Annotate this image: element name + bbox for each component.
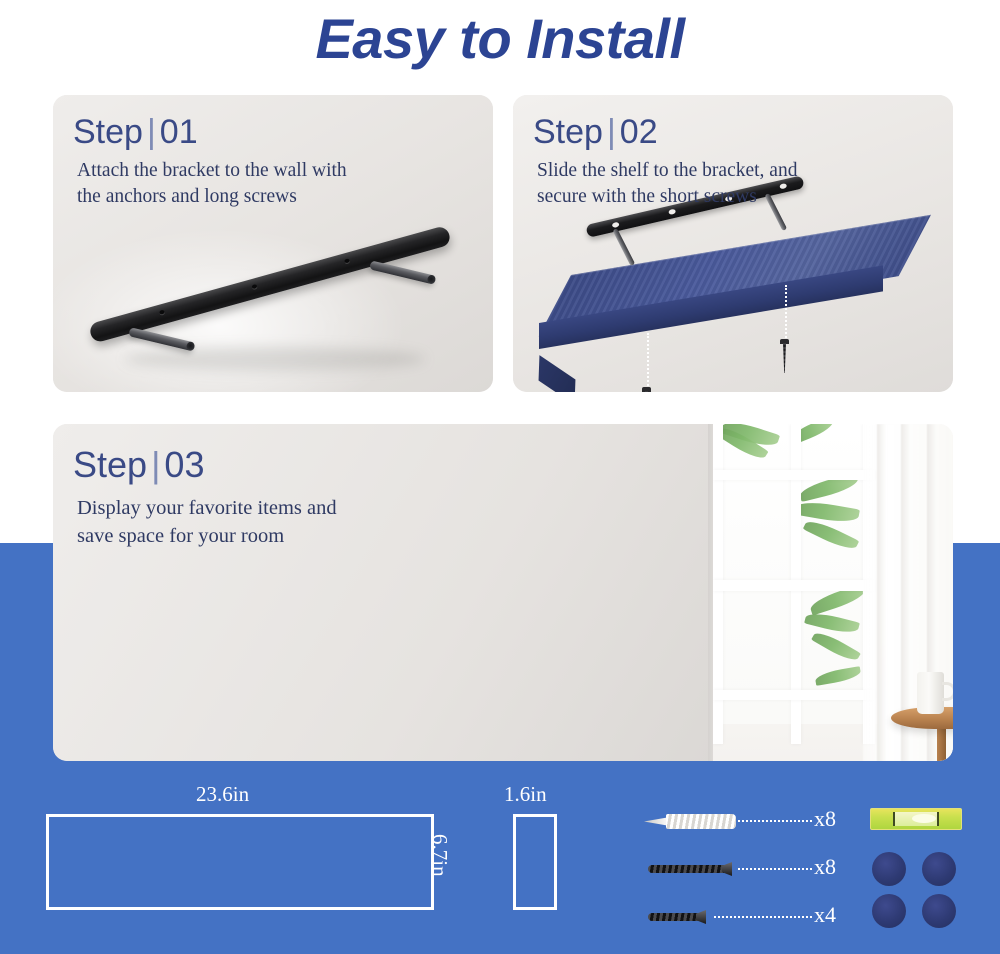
table-leg xyxy=(937,724,946,761)
adhesive-pad xyxy=(872,852,906,886)
short-screw-quantity: x4 xyxy=(814,902,836,928)
step-card-01: Step|01 Attach the bracket to the wall w… xyxy=(53,95,493,392)
dimension-diagram-main: 23.6in 6.7in xyxy=(46,782,446,922)
long-screw-quantity: x8 xyxy=(814,854,836,880)
anchor-quantity: x8 xyxy=(814,806,836,832)
thickness-dimension-label: 1.6in xyxy=(504,782,547,807)
step-number: 03 xyxy=(164,444,204,485)
hardware-row-anchor: x8 xyxy=(644,806,854,836)
dimension-diagram-thickness: 1.6in xyxy=(504,782,614,922)
step-03-description: Display your favorite items and save spa… xyxy=(77,494,497,550)
shelf-board xyxy=(571,275,931,379)
step-02-heading: Step|02 xyxy=(533,113,658,152)
step-number: 01 xyxy=(160,113,198,151)
step-card-02: Step|02 Slide the shelf to the bracket, … xyxy=(513,95,953,392)
leader-line xyxy=(738,820,812,822)
infographic-page: Easy to Install Step|01 Attach the brack… xyxy=(0,0,1000,954)
shelf-face-outline xyxy=(46,814,434,910)
screw-guide-line xyxy=(647,333,649,389)
step-03-heading: Step|03 xyxy=(73,444,204,486)
window-mullion xyxy=(713,580,875,591)
step-01-description: Attach the bracket to the wall with the … xyxy=(77,158,477,210)
wall-anchor-icon xyxy=(644,813,736,830)
width-dimension-label: 23.6in xyxy=(196,782,249,807)
anchor-body xyxy=(666,814,736,829)
bubble-level-icon xyxy=(870,808,962,830)
short-screw xyxy=(782,339,787,373)
step-word: Step xyxy=(73,444,147,485)
accessories-group xyxy=(870,808,970,926)
step-02-description: Slide the shelf to the bracket, and secu… xyxy=(537,158,937,210)
leader-line xyxy=(738,868,812,870)
window-mullion xyxy=(713,690,875,700)
long-screw-icon xyxy=(648,862,732,876)
bracket-shadow xyxy=(125,347,425,371)
hardware-row-short-screw: x4 xyxy=(644,902,854,932)
hardware-list: x8 x8 x4 xyxy=(644,806,854,926)
step-divider: | xyxy=(147,444,164,485)
page-title: Easy to Install xyxy=(0,4,1000,74)
window-mullion xyxy=(713,470,875,480)
step-divider: | xyxy=(603,113,620,151)
screw-guide-line xyxy=(785,285,787,341)
hardware-row-long-screw: x8 xyxy=(644,854,854,884)
depth-dimension-label: 6.7in xyxy=(427,834,452,877)
shelf-side-outline xyxy=(513,814,557,910)
short-screw-icon xyxy=(648,910,706,924)
coffee-mug-handle xyxy=(942,682,953,701)
short-screw xyxy=(644,387,649,392)
step-word: Step xyxy=(533,113,603,151)
screw-thread xyxy=(648,913,698,921)
step-number: 02 xyxy=(620,113,658,151)
step-card-03: LOTTA ACKTON AND PIA ULIN Janet Fitch Pa… xyxy=(53,424,953,761)
coffee-mug xyxy=(917,672,944,714)
adhesive-pad xyxy=(922,894,956,928)
adhesive-pad xyxy=(922,852,956,886)
step-01-heading: Step|01 xyxy=(73,113,198,152)
step-divider: | xyxy=(143,113,160,151)
adhesive-pad xyxy=(872,894,906,928)
step-word: Step xyxy=(73,113,143,151)
screw-shaft xyxy=(645,391,648,392)
leader-line xyxy=(714,916,812,918)
screw-shaft xyxy=(783,343,786,373)
screw-thread xyxy=(648,865,724,873)
